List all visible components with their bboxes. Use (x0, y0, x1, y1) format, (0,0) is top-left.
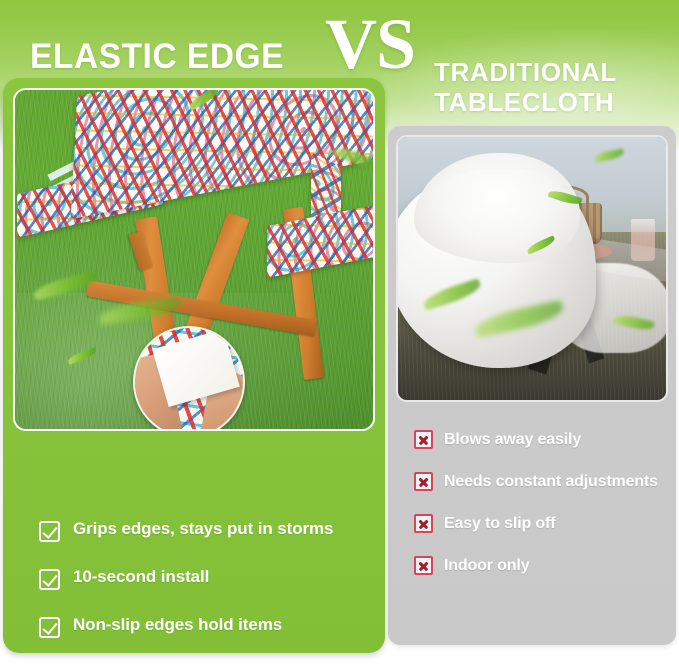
vs-label: VS (325, 8, 415, 80)
drawback-label: Needs constant adjustments (444, 472, 658, 491)
drawback-label: Indoor only (444, 556, 529, 575)
list-item: Grips edges, stays put in storms (39, 519, 379, 542)
elastic-edge-feature-list: Grips edges, stays put in storms 10-seco… (39, 519, 379, 665)
list-item: Easy to slip off (414, 514, 676, 533)
x-mark-icon (414, 472, 433, 491)
x-mark-icon (414, 430, 433, 449)
list-item: Needs constant adjustments (414, 472, 676, 491)
x-mark-icon (414, 556, 433, 575)
elastic-edge-title: ELASTIC EDGE (30, 39, 284, 74)
elastic-edge-card: Grips edges, stays put in storms 10-seco… (3, 78, 385, 653)
list-item: Blows away easily (414, 430, 676, 449)
traditional-tablecloth-photo (396, 135, 668, 402)
list-item: Non-slip edges hold items (39, 615, 379, 638)
feature-label: 10-second install (73, 567, 209, 587)
traditional-drawback-list: Blows away easily Needs constant adjustm… (414, 430, 676, 575)
x-mark-icon (414, 514, 433, 533)
feature-label: Non-slip edges hold items (73, 615, 282, 635)
list-item: 10-second install (39, 567, 379, 590)
elastic-edge-photo-inner (15, 90, 373, 429)
elastic-edge-photo (13, 88, 375, 431)
traditional-tablecloth-card: Blows away easily Needs constant adjustm… (388, 126, 676, 645)
list-item: Indoor only (414, 556, 676, 575)
checkbox-checked-icon (39, 521, 60, 542)
traditional-tablecloth-title: TRADITIONAL TABLECLOTH (434, 57, 617, 117)
feature-label: Grips edges, stays put in storms (73, 519, 333, 539)
comparison-infographic: ELASTIC EDGE VS TRADITIONAL TABLECLOTH (0, 0, 679, 665)
drawback-label: Blows away easily (444, 430, 581, 449)
traditional-line-1: TRADITIONAL (434, 57, 617, 87)
closeup-inset-circle (133, 326, 245, 431)
checkbox-checked-icon (39, 569, 60, 590)
drinking-glass (631, 219, 655, 261)
traditional-line-2: TABLECLOTH (434, 87, 617, 117)
checkbox-checked-icon (39, 617, 60, 638)
drawback-label: Easy to slip off (444, 514, 555, 533)
